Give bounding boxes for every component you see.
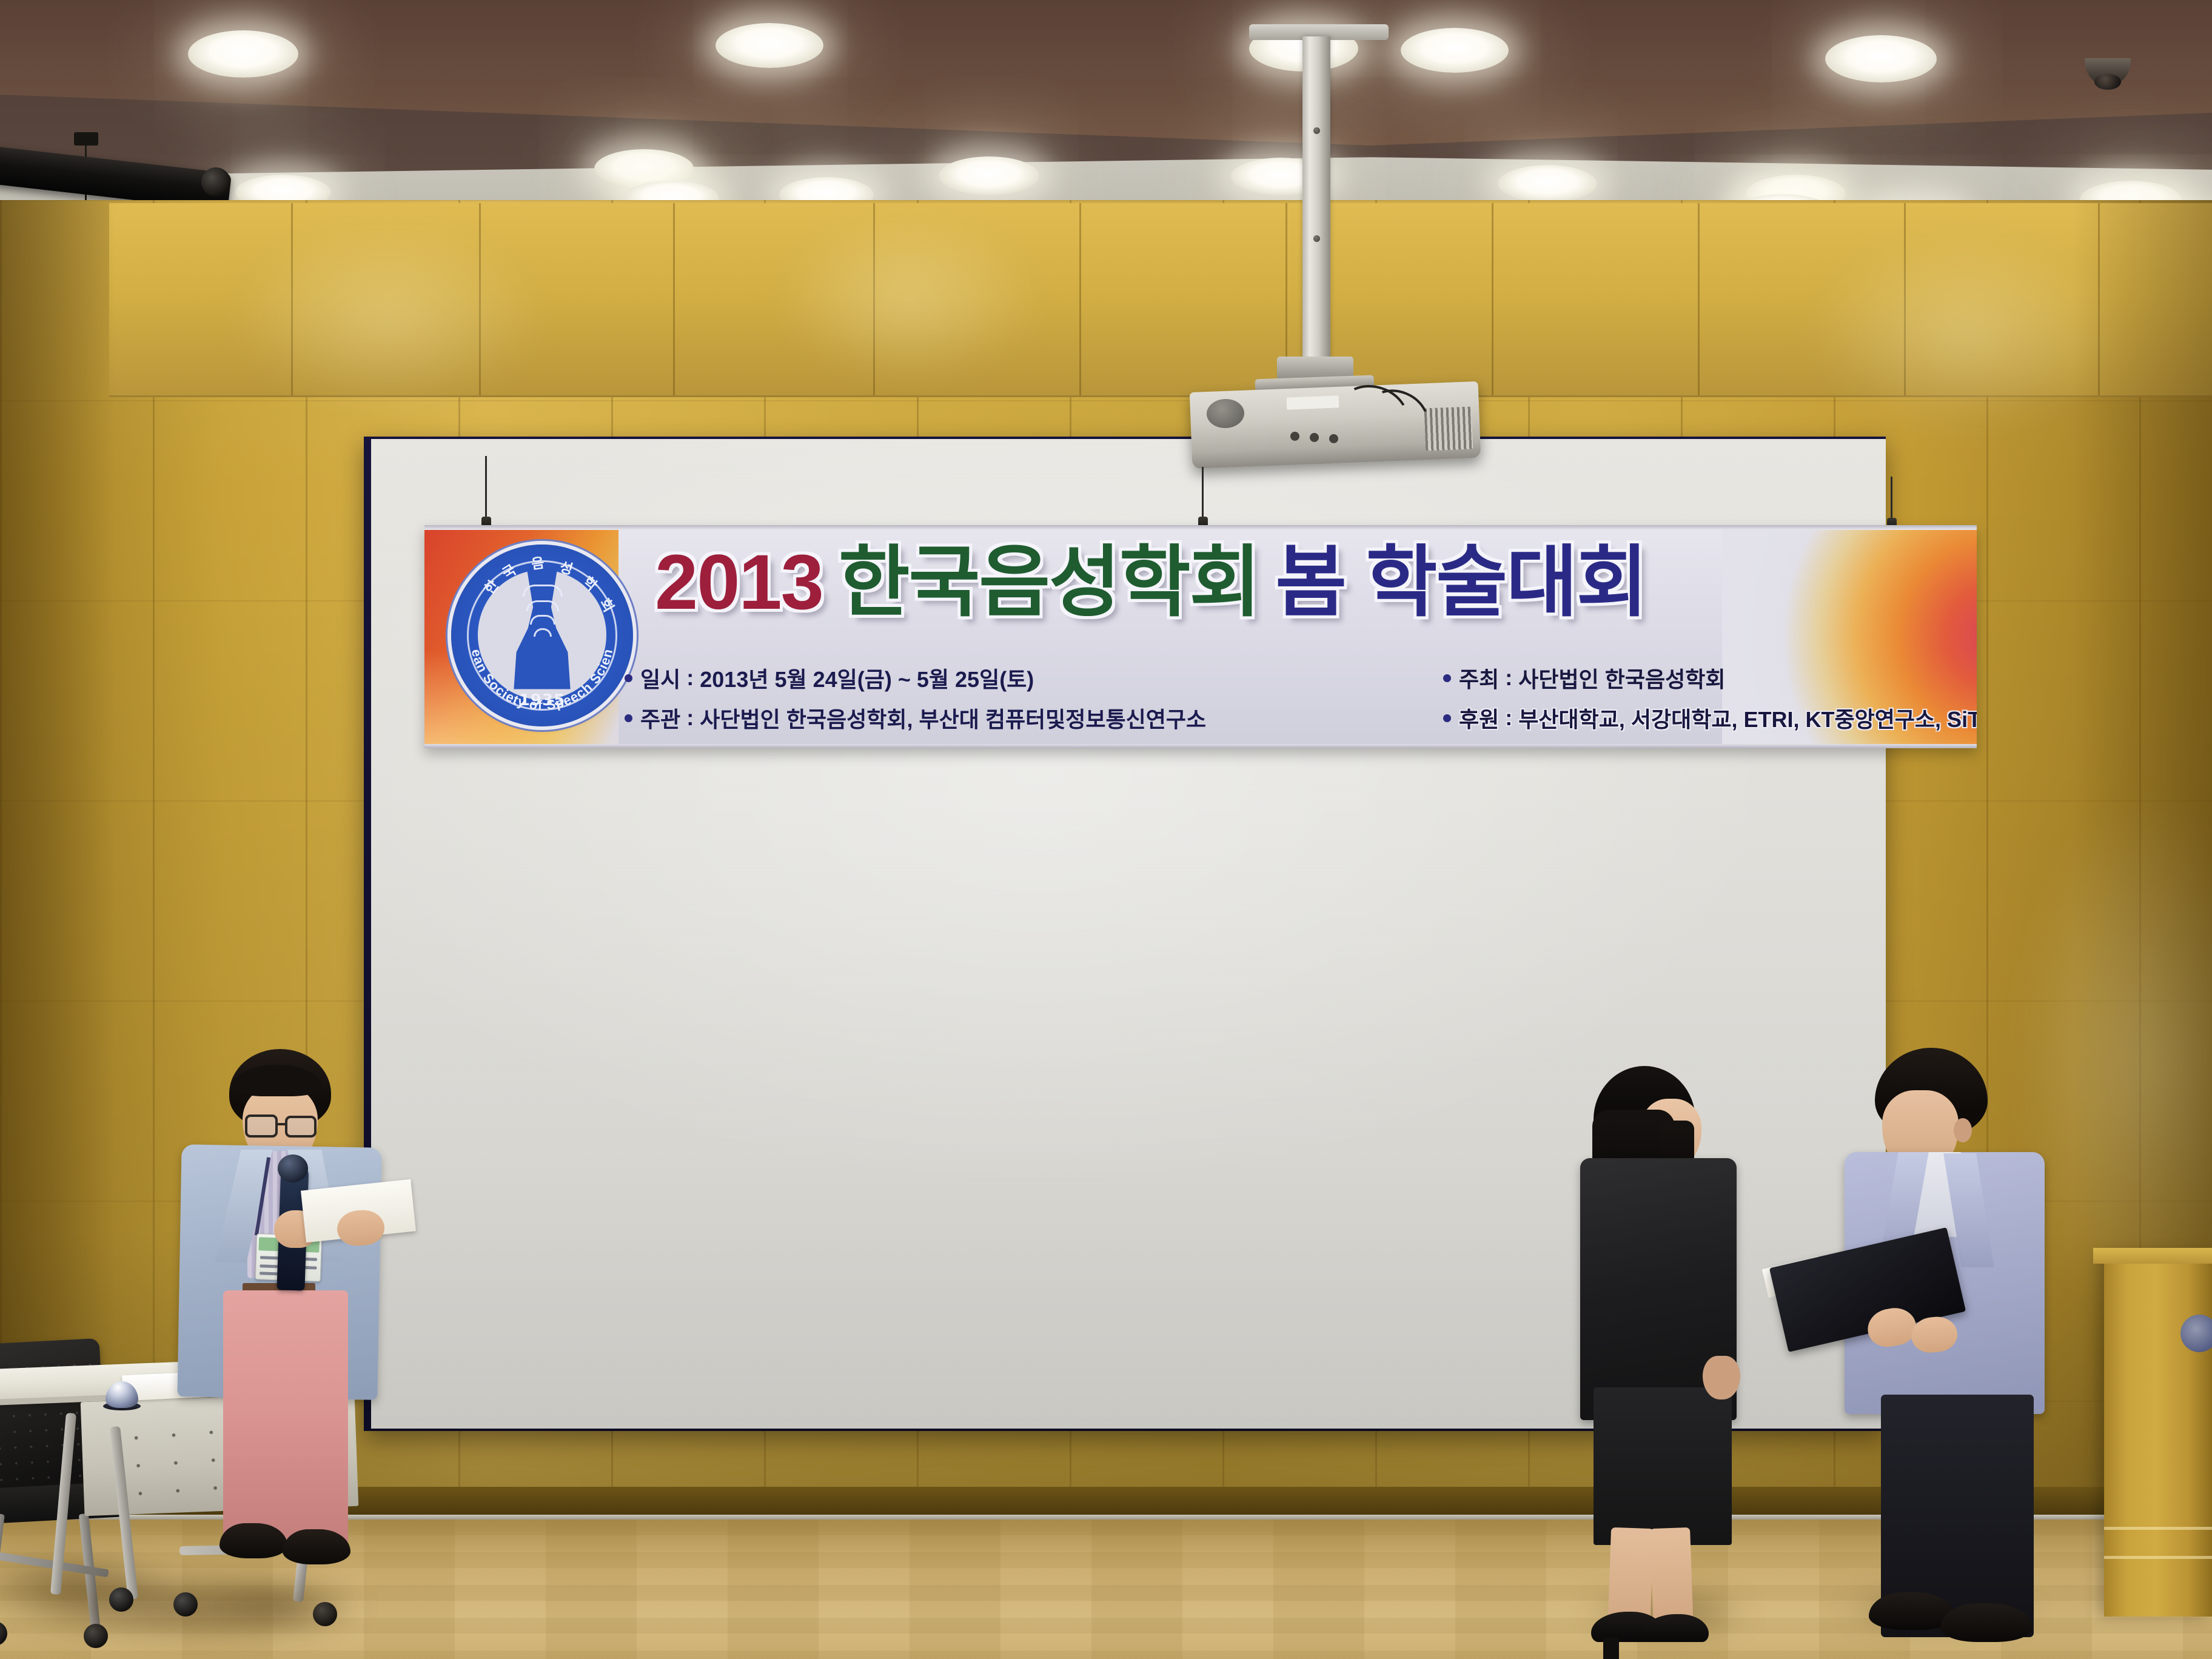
table-caster bbox=[109, 1587, 133, 1612]
recipient-heel-stem bbox=[1603, 1637, 1619, 1659]
ceiling-light bbox=[1498, 165, 1597, 203]
banner-info-right-column: 주최 : 사단법인 한국음성학회 후원 : 부산대학교, 서강대학교, ETRI… bbox=[1443, 662, 1977, 742]
host-eyeglasses-bridge bbox=[276, 1123, 287, 1125]
wooden-lectern bbox=[2104, 1253, 2212, 1617]
host-shoe-left bbox=[220, 1523, 287, 1558]
projector-label bbox=[1287, 395, 1339, 409]
projector-vent bbox=[1424, 407, 1473, 451]
banner-info-organizer-value: 사단법인 한국음성학회, 부산대 컴퓨터및정보통신연구소 bbox=[700, 702, 1206, 734]
society-logo-emblem: 한 국 음 성 학 회 1935 Korean Society of Speec… bbox=[451, 545, 633, 726]
banner-info-date-row: 일시 : 2013년 5월 24일(금) ~ 5월 25일(토) bbox=[625, 662, 1206, 694]
lectern-top-surface bbox=[2093, 1248, 2212, 1264]
banner-info-sponsors-value: 부산대학교, 서강대학교, ETRI, KT중앙연구소, SiTEC, 디오텍,… bbox=[1518, 702, 1977, 734]
wall-light-sheen bbox=[776, 212, 1043, 382]
ceiling-light bbox=[1401, 28, 1509, 73]
projector-port bbox=[1310, 433, 1319, 442]
banner-info-date-label: 일시 bbox=[640, 662, 680, 694]
host-trousers bbox=[223, 1290, 348, 1545]
speaker-end-cap bbox=[201, 167, 230, 196]
svg-text:Korean Society of Speech Scien: Korean Society of Speech Sciences bbox=[451, 545, 616, 712]
banner-info-organizer-row: 주관 : 사단법인 한국음성학회, 부산대 컴퓨터및정보통신연구소 bbox=[625, 702, 1206, 734]
bullet-icon bbox=[1443, 674, 1451, 682]
banner-info-organizer-label: 주관 bbox=[640, 702, 680, 734]
bullet-icon bbox=[625, 714, 632, 722]
presenter-ear bbox=[1954, 1118, 1972, 1142]
emblem-english-name-arc: Korean Society of Speech Sciences bbox=[451, 545, 633, 726]
wall-left-shading bbox=[0, 200, 115, 1522]
banner-headline: 2013한국음성학회봄 학술대회 bbox=[655, 542, 1647, 623]
ceiling-light bbox=[716, 23, 823, 68]
host-shadow bbox=[194, 1581, 364, 1630]
banner-title-society: 한국음성학회 bbox=[839, 539, 1260, 626]
host-eyeglasses-right-lens bbox=[285, 1116, 317, 1138]
ceiling-light bbox=[1825, 35, 1937, 82]
banner-info-host-label: 주최 bbox=[1459, 662, 1499, 694]
lectern-trim-band bbox=[2104, 1527, 2212, 1530]
recipient-hands-clasped bbox=[1703, 1356, 1740, 1399]
banner-title-year: 2013 bbox=[655, 539, 823, 626]
bullet-icon bbox=[1443, 714, 1451, 722]
recipient-skirt bbox=[1594, 1387, 1732, 1545]
banner-info-host-row: 주최 : 사단법인 한국음성학회 bbox=[1443, 662, 1977, 694]
banner-top-edge bbox=[424, 525, 1977, 530]
projector-port bbox=[1290, 432, 1299, 441]
banner-title-event: 봄 학술대회 bbox=[1275, 539, 1646, 626]
banner-info-sponsors-row: 후원 : 부산대학교, 서강대학교, ETRI, KT중앙연구소, SiTEC,… bbox=[1443, 702, 1977, 734]
banner-info-left-column: 일시 : 2013년 5월 24일(금) ~ 5월 25일(토) 주관 : 사단… bbox=[625, 662, 1206, 742]
lectern-trim-band bbox=[2104, 1556, 2212, 1559]
host-shoe-right bbox=[283, 1529, 350, 1564]
speaker-ceiling-bracket bbox=[74, 132, 98, 146]
ceiling-light bbox=[188, 30, 298, 78]
banner-info-host-value: 사단법인 한국음성학회 bbox=[1518, 662, 1725, 694]
banner-info-sponsors-label: 후원 bbox=[1459, 702, 1499, 734]
projector-mount-pole bbox=[1302, 36, 1330, 363]
banner-bottom-edge bbox=[424, 744, 1977, 748]
wall-light-sheen bbox=[230, 218, 546, 412]
host-eyeglasses-left-lens bbox=[245, 1114, 278, 1138]
banner-info-date-value: 2013년 5월 24일(금) ~ 5월 25일(토) bbox=[700, 662, 1034, 694]
host-microphone-head bbox=[278, 1155, 308, 1182]
conference-banner: 한 국 음 성 학 회 1935 Korean Society of Speec… bbox=[424, 525, 1977, 748]
emblem-english-name: Korean Society of Speech Sciences bbox=[451, 545, 616, 712]
presenter-shoe-right bbox=[1940, 1603, 2033, 1642]
bullet-icon bbox=[625, 674, 632, 682]
conference-stage-photo: 한 국 음 성 학 회 1935 Korean Society of Speec… bbox=[0, 0, 2212, 1659]
ceiling-light bbox=[939, 156, 1039, 195]
projector-port bbox=[1329, 434, 1338, 443]
